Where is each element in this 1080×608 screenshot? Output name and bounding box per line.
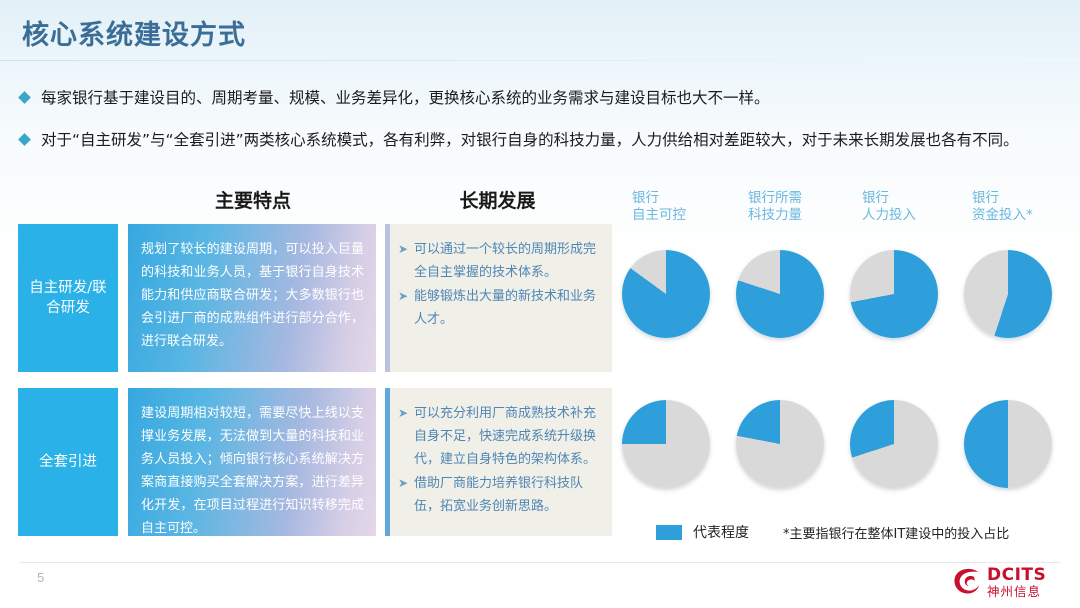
logo-subname: 神州信息 — [987, 586, 1046, 599]
arrow-bullet-icon: ➤ — [398, 472, 414, 495]
page-title: 核心系统建设方式 — [22, 13, 246, 52]
pie-column-header-1: 银行所需 科技力量 — [748, 190, 802, 224]
arrow-bullet-icon: ➤ — [398, 238, 414, 261]
page-number: 5 — [37, 570, 44, 585]
row-features-text: 规划了较长的建设周期，可以投入巨量的科技和业务人员，基于银行自身技术能力和供应商… — [141, 238, 364, 353]
dcits-logo: DCITS 神州信息 — [952, 565, 1064, 601]
bullet-text: 每家银行基于建设目的、周期考量、规模、业务差异化，更换核心系统的业务需求与建设目… — [41, 88, 770, 108]
arrow-bullet-icon: ➤ — [398, 402, 414, 425]
pie-chart — [622, 400, 710, 488]
slide-canvas: 核心系统建设方式 每家银行基于建设目的、周期考量、规模、业务差异化，更换核心系统… — [0, 0, 1080, 608]
footer-divider — [20, 562, 1060, 563]
row-features-text: 建设周期相对较短，需要尽快上线以支撑业务发展，无法做到大量的科技和业务人员投入；… — [141, 402, 364, 540]
diamond-bullet-icon — [18, 91, 31, 104]
bullet-item: 每家银行基于建设目的、周期考量、规模、业务差异化，更换核心系统的业务需求与建设目… — [20, 88, 770, 108]
bullet-text: 对于“自主研发”与“全套引进”两类核心系统模式，各有利弊，对银行自身的科技力量，… — [41, 130, 1019, 150]
list-item: ➤ 可以通过一个较长的周期形成完全自主掌握的技术体系。 — [398, 238, 600, 284]
list-item-text: 能够锻炼出大量的新技术和业务人才。 — [414, 285, 600, 331]
row-label-text: 自主研发/联合研发 — [24, 278, 112, 318]
pie-chart — [736, 250, 824, 338]
logo-name: DCITS — [987, 567, 1046, 584]
title-divider — [0, 60, 1080, 61]
row-features-cell: 规划了较长的建设周期，可以投入巨量的科技和业务人员，基于银行自身技术能力和供应商… — [128, 224, 376, 372]
pie-chart — [964, 400, 1052, 488]
chart-footnote: *主要指银行在整体IT建设中的投入占比 — [783, 523, 1009, 542]
legend-color-swatch — [656, 525, 682, 540]
list-item: ➤ 可以充分利用厂商成熟技术补充自身不足，快速完成系统升级换代，建立自身特色的架… — [398, 402, 600, 471]
row-long-term-cell: ➤ 可以通过一个较长的周期形成完全自主掌握的技术体系。 ➤ 能够锻炼出大量的新技… — [385, 224, 612, 372]
pie-chart — [736, 400, 824, 488]
row-long-term-cell: ➤ 可以充分利用厂商成熟技术补充自身不足，快速完成系统升级换代，建立自身特色的架… — [385, 388, 612, 536]
pie-chart — [850, 400, 938, 488]
pie-chart — [964, 250, 1052, 338]
pie-column-header-3: 银行 资金投入* — [972, 190, 1033, 224]
dcits-swirl-icon — [952, 566, 982, 601]
pie-chart — [850, 250, 938, 338]
row-label-text: 全套引进 — [39, 452, 97, 472]
row-label-cell: 自主研发/联合研发 — [18, 224, 118, 372]
list-item-text: 可以通过一个较长的周期形成完全自主掌握的技术体系。 — [414, 238, 600, 284]
diamond-bullet-icon — [18, 133, 31, 146]
list-item: ➤ 能够锻炼出大量的新技术和业务人才。 — [398, 285, 600, 331]
list-item: ➤ 借助厂商能力培养银行科技队伍，拓宽业务创新思路。 — [398, 472, 600, 518]
pie-column-header-2: 银行 人力投入 — [862, 190, 916, 224]
list-item-text: 借助厂商能力培养银行科技队伍，拓宽业务创新思路。 — [414, 472, 600, 518]
list-item-text: 可以充分利用厂商成熟技术补充自身不足，快速完成系统升级换代，建立自身特色的架构体… — [414, 402, 600, 471]
pie-column-header-0: 银行 自主可控 — [632, 190, 686, 224]
pie-chart — [622, 250, 710, 338]
row-features-cell: 建设周期相对较短，需要尽快上线以支撑业务发展，无法做到大量的科技和业务人员投入；… — [128, 388, 376, 536]
legend-label: 代表程度 — [693, 522, 749, 542]
chart-legend: 代表程度 *主要指银行在整体IT建设中的投入占比 — [656, 522, 1009, 542]
row-label-cell: 全套引进 — [18, 388, 118, 536]
arrow-bullet-icon: ➤ — [398, 285, 414, 308]
column-header-long-term: 长期发展 — [385, 186, 610, 213]
title-band: 核心系统建设方式 — [0, 0, 1080, 62]
logo-text: DCITS 神州信息 — [987, 567, 1046, 599]
column-header-features: 主要特点 — [128, 186, 378, 213]
bullet-item: 对于“自主研发”与“全套引进”两类核心系统模式，各有利弊，对银行自身的科技力量，… — [20, 130, 1019, 150]
